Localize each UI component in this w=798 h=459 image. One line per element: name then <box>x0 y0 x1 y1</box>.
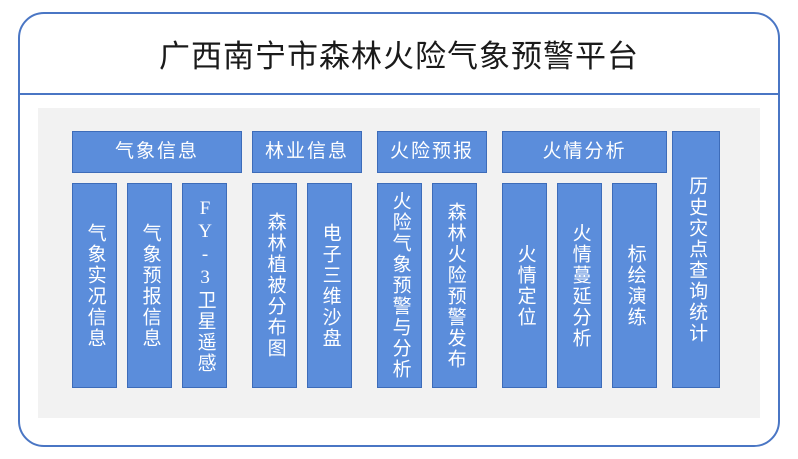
item-weather-live-info[interactable]: 气象实况信息 <box>72 183 117 388</box>
group-header-fire-risk-forecast[interactable]: 火险预报 <box>377 131 487 173</box>
group-header-forestry-info[interactable]: 林业信息 <box>252 131 362 173</box>
diagram-canvas: 广西南宁市森林火险气象预警平台 气象信息 气象实况信息 气象预报信息 FY-3卫… <box>0 0 798 459</box>
item-weather-forecast-info[interactable]: 气象预报信息 <box>127 183 172 388</box>
title-bar: 广西南宁市森林火险气象预警平台 <box>18 12 780 94</box>
item-fire-risk-weather-warning-analysis[interactable]: 火险气象预警与分析 <box>377 183 422 388</box>
item-forest-fire-risk-warning-release[interactable]: 森林火险预警发布 <box>432 183 477 388</box>
page-title: 广西南宁市森林火险气象预警平台 <box>159 31 639 76</box>
title-divider <box>20 93 778 95</box>
item-mapping-drill[interactable]: 标绘演练 <box>612 183 657 388</box>
item-historical-disaster-query-statistics[interactable]: 历史灾点查询统计 <box>672 131 720 388</box>
item-fire-localization[interactable]: 火情定位 <box>502 183 547 388</box>
item-forest-vegetation-map[interactable]: 森林植被分布图 <box>252 183 297 388</box>
item-electronic-3d-sandtable[interactable]: 电子三维沙盘 <box>307 183 352 388</box>
group-header-weather-info[interactable]: 气象信息 <box>72 131 242 173</box>
item-fy3-satellite-remote-sensing[interactable]: FY-3卫星遥感 <box>182 183 227 388</box>
group-header-fire-situation-analysis[interactable]: 火情分析 <box>502 131 667 173</box>
item-fire-spread-analysis[interactable]: 火情蔓延分析 <box>557 183 602 388</box>
